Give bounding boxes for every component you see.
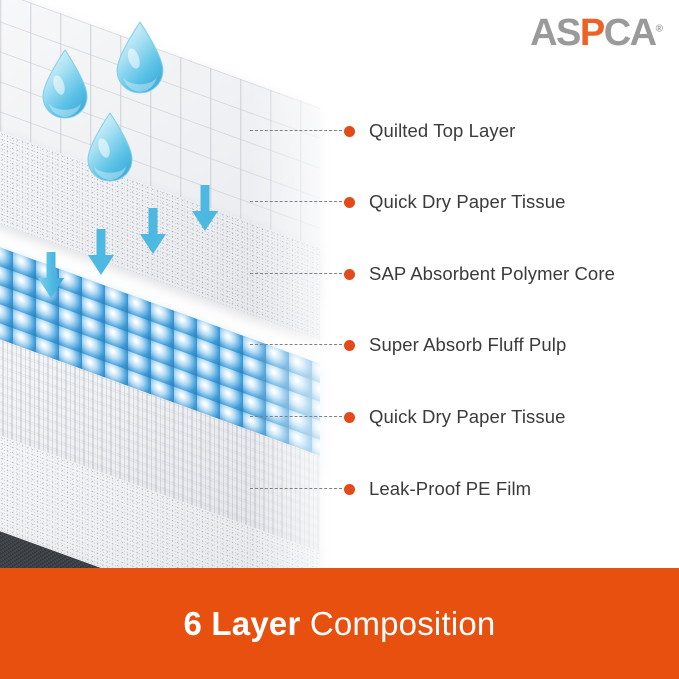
callout-label: Quilted Top Layer <box>369 120 515 142</box>
callout-dot-icon <box>344 412 355 423</box>
bottom-banner: 6 Layer Composition <box>0 568 679 679</box>
leader-line <box>250 201 342 203</box>
callout-dot-icon <box>344 126 355 137</box>
callout-super-absorb-fluff-pulp: Super Absorb Fluff Pulp <box>250 334 566 356</box>
leader-line <box>250 273 342 275</box>
water-droplet-top <box>113 21 167 94</box>
callout-dot-icon <box>344 484 355 495</box>
callout-label: Quick Dry Paper Tissue <box>369 406 566 428</box>
leader-line <box>250 488 342 490</box>
logo-text-accent: P <box>580 12 604 54</box>
absorption-arrow-2 <box>88 229 114 275</box>
callout-quilted-top-layer: Quilted Top Layer <box>250 120 515 142</box>
callout-label: Super Absorb Fluff Pulp <box>369 334 566 356</box>
absorption-arrow-4 <box>192 185 218 231</box>
callout-dot-icon <box>344 197 355 208</box>
banner-title-regular: Composition <box>300 605 495 642</box>
logo-text-after: CA <box>604 12 656 54</box>
callout-dot-icon <box>344 269 355 280</box>
product-infographic: ASPCA® <box>0 0 679 679</box>
logo-text-before: AS <box>530 12 580 54</box>
water-droplet-left <box>39 49 91 119</box>
callout-sap-absorbent-polymer-core: SAP Absorbent Polymer Core <box>250 263 615 285</box>
callout-quick-dry-paper-tissue-top: Quick Dry Paper Tissue <box>250 191 566 213</box>
leader-line <box>250 416 342 418</box>
leader-line <box>250 344 342 346</box>
absorption-arrow-3 <box>140 208 166 254</box>
callout-dot-icon <box>344 340 355 351</box>
callout-quick-dry-paper-tissue-bottom: Quick Dry Paper Tissue <box>250 406 566 428</box>
registered-trademark-icon: ® <box>656 23 663 34</box>
aspca-logo: ASPCA® <box>530 14 663 52</box>
banner-title: 6 Layer Composition <box>184 605 496 643</box>
callout-label: SAP Absorbent Polymer Core <box>369 263 615 285</box>
banner-title-bold: 6 Layer <box>184 605 301 642</box>
callout-label: Leak-Proof PE Film <box>369 478 531 500</box>
absorption-arrow-1 <box>38 252 64 298</box>
callout-label: Quick Dry Paper Tissue <box>369 191 566 213</box>
leader-line <box>250 130 342 132</box>
callout-leak-proof-pe-film: Leak-Proof PE Film <box>250 478 531 500</box>
water-droplet-center <box>84 112 136 182</box>
